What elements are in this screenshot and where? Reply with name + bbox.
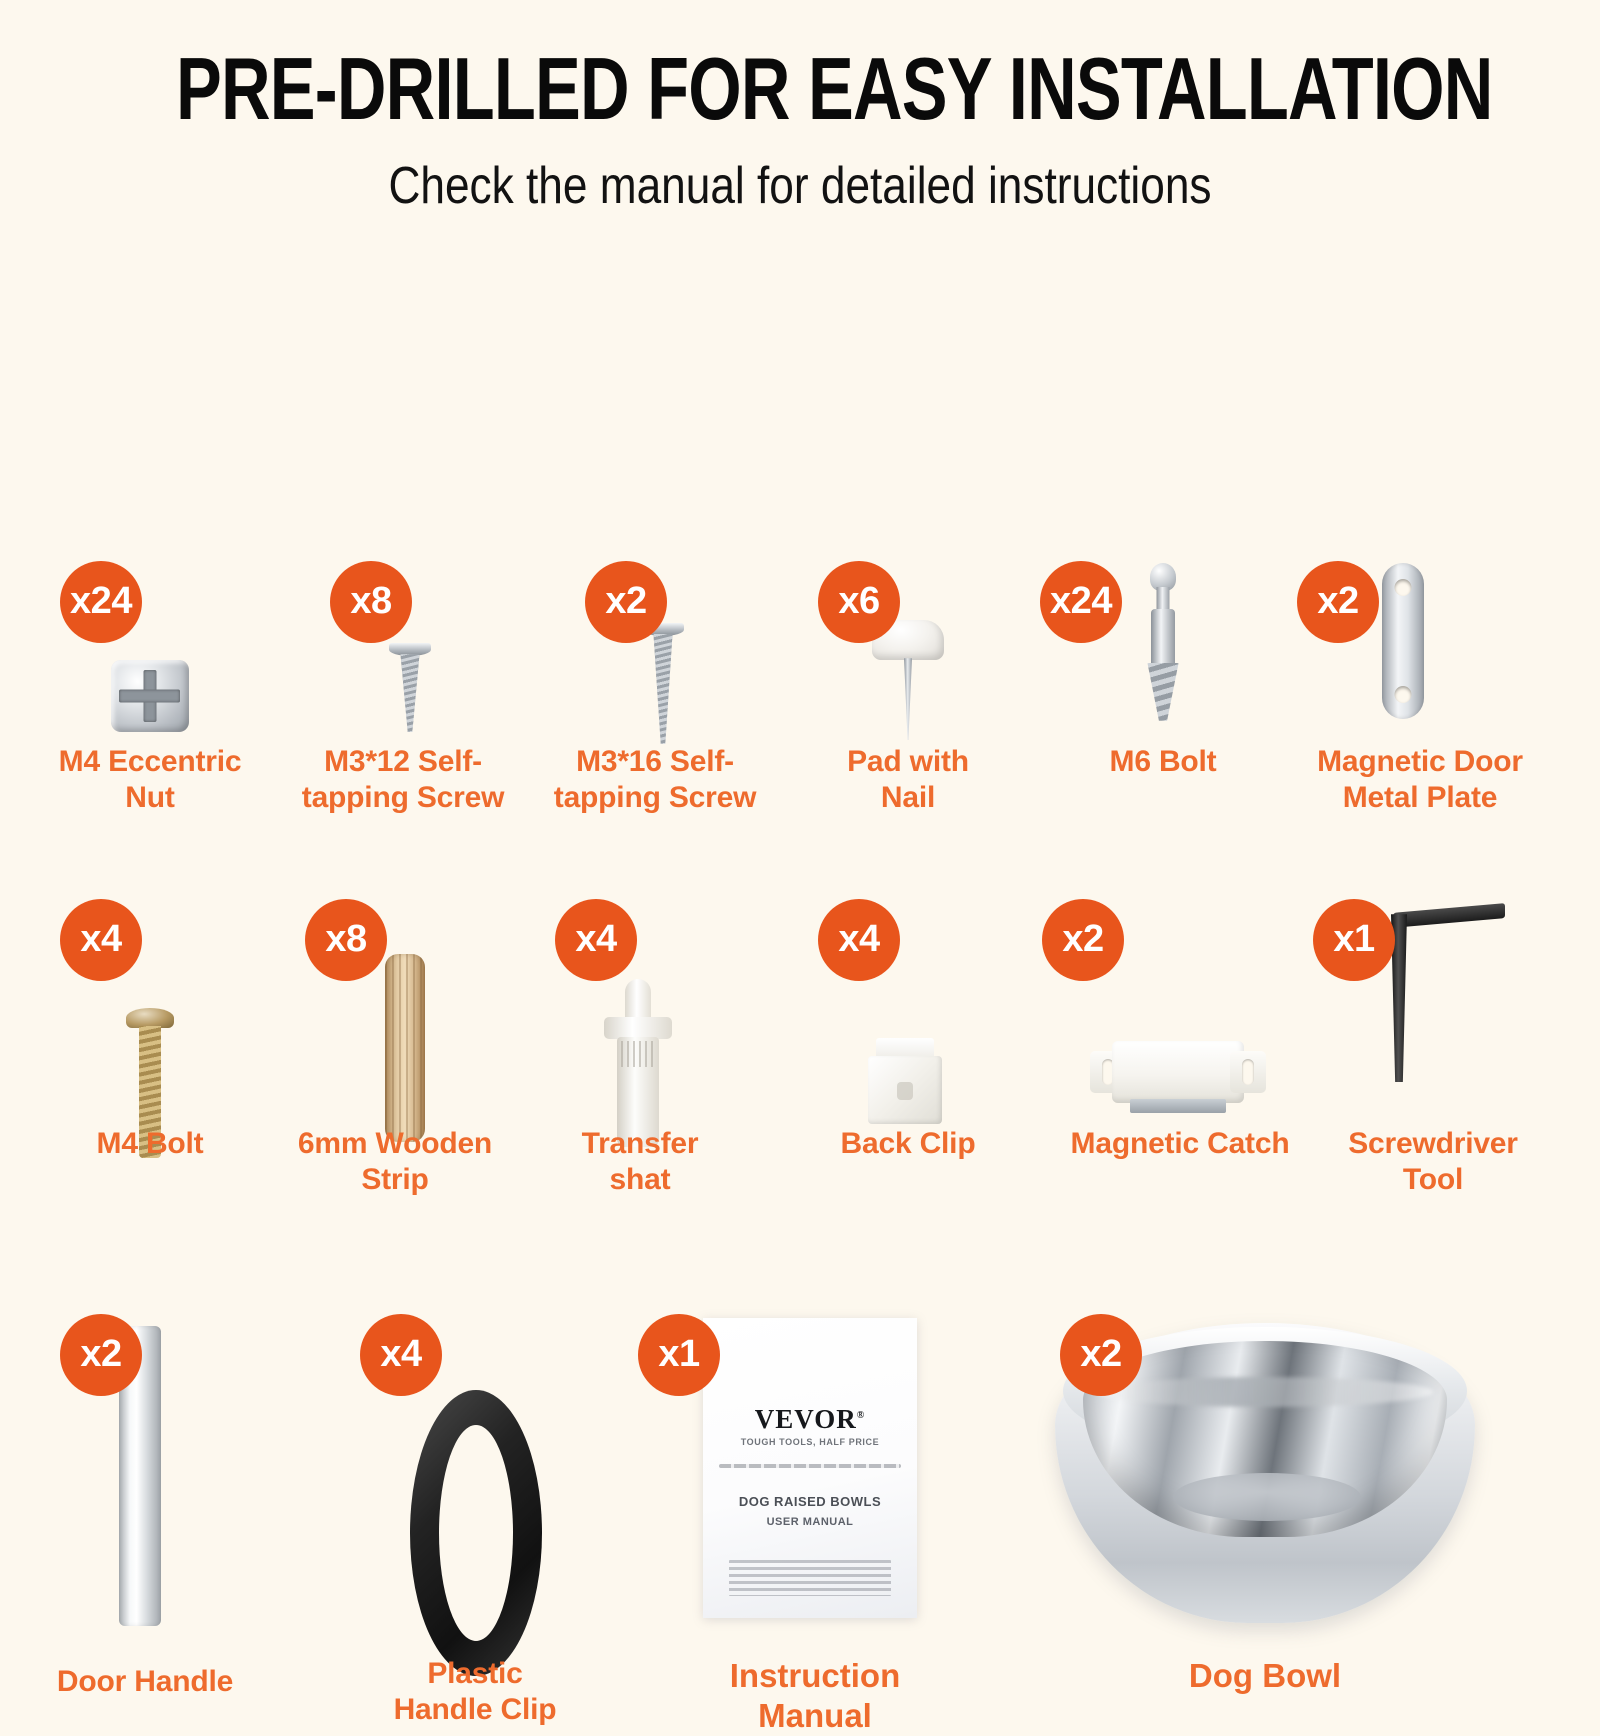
quantity-badge: x4 bbox=[60, 899, 142, 981]
part-label: M4 Bolt bbox=[30, 1126, 270, 1163]
quantity-badge: x1 bbox=[638, 1314, 720, 1396]
quantity-badge: x6 bbox=[818, 561, 900, 643]
manual-blurred-paragraph bbox=[729, 1560, 891, 1596]
part-label: Back Clip bbox=[793, 1126, 1023, 1163]
part-label: Door Handle bbox=[25, 1664, 265, 1701]
quantity-badge: x8 bbox=[330, 561, 412, 643]
header-block: PRE-DRILLED FOR EASY INSTALLATION Check … bbox=[0, 0, 1600, 216]
part-label: M4 EccentricNut bbox=[35, 744, 265, 817]
back-clip-icon bbox=[855, 1026, 955, 1136]
quantity-badge: x24 bbox=[60, 561, 142, 643]
quantity-badge: x24 bbox=[1040, 561, 1122, 643]
quantity-badge: x2 bbox=[60, 1314, 142, 1396]
part-label: Dog Bowl bbox=[1145, 1656, 1385, 1696]
quantity-badge: x2 bbox=[1042, 899, 1124, 981]
page-title: PRE-DRILLED FOR EASY INSTALLATION bbox=[176, 44, 1424, 134]
part-label: Magnetic DoorMetal Plate bbox=[1300, 744, 1540, 817]
part-label: 6mm WoodenStrip bbox=[275, 1126, 515, 1199]
magnetic-catch-icon bbox=[1088, 1028, 1268, 1128]
manual-product-title: DOG RAISED BOWLS bbox=[703, 1494, 917, 1509]
part-label: Transfershat bbox=[525, 1126, 755, 1199]
part-label: M3*16 Self-tapping Screw bbox=[540, 744, 770, 817]
quantity-badge: x4 bbox=[360, 1314, 442, 1396]
manual-doc-type: USER MANUAL bbox=[703, 1516, 917, 1528]
quantity-badge: x2 bbox=[585, 561, 667, 643]
part-label: ScrewdriverTool bbox=[1318, 1126, 1548, 1199]
manual-brand-logo: VEVOR® bbox=[703, 1404, 917, 1435]
part-label: M3*12 Self-tapping Screw bbox=[288, 744, 518, 817]
quantity-badge: x4 bbox=[818, 899, 900, 981]
self-tapping-screw-icon bbox=[355, 626, 465, 751]
manual-blurred-line bbox=[719, 1464, 901, 1468]
quantity-badge: x2 bbox=[1060, 1314, 1142, 1396]
part-label: PlasticHandle Clip bbox=[355, 1656, 595, 1729]
manual-tagline: TOUGH TOOLS, HALF PRICE bbox=[703, 1437, 917, 1447]
quantity-badge: x1 bbox=[1313, 899, 1395, 981]
part-label: InstructionManual bbox=[700, 1656, 930, 1736]
plastic-handle-clip-icon bbox=[406, 1388, 546, 1678]
quantity-badge: x4 bbox=[555, 899, 637, 981]
page-subtitle: Check the manual for detailed instructio… bbox=[120, 156, 1480, 216]
instruction-manual-icon: VEVOR® TOUGH TOOLS, HALF PRICE DOG RAISE… bbox=[703, 1316, 917, 1621]
magnetic-door-metal-plate-icon bbox=[1368, 556, 1438, 726]
part-label: M6 Bolt bbox=[1048, 744, 1278, 781]
eccentric-nut-icon bbox=[95, 641, 205, 751]
wooden-dowel-icon bbox=[355, 951, 455, 1146]
quantity-badge: x8 bbox=[305, 899, 387, 981]
part-label: Magnetic Catch bbox=[1060, 1126, 1300, 1163]
part-label: Pad withNail bbox=[793, 744, 1023, 817]
m6-bolt-icon bbox=[1118, 558, 1208, 728]
transfer-shaft-icon bbox=[588, 976, 688, 1151]
quantity-badge: x2 bbox=[1297, 561, 1379, 643]
screwdriver-tool-icon bbox=[1380, 904, 1510, 1089]
